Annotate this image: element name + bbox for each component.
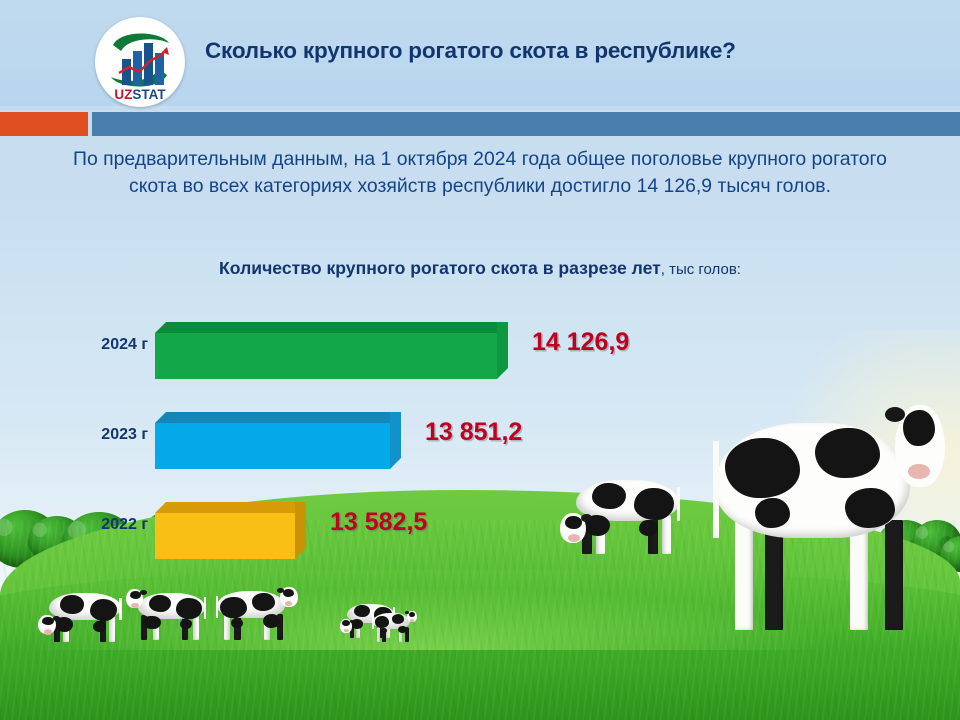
logo-text-stat: STAT bbox=[132, 87, 166, 102]
cow-head-patch bbox=[42, 617, 54, 626]
bar-front-face bbox=[155, 333, 497, 379]
header-bar: UZSTAT Сколько крупного рогатого скота в… bbox=[0, 0, 960, 106]
chart-caption-light: , тыс голов: bbox=[661, 261, 741, 278]
cow-patch bbox=[252, 593, 275, 611]
cow-muzzle bbox=[410, 619, 414, 622]
chart-caption: Количество крупного рогатого скота в раз… bbox=[60, 258, 900, 279]
cow-leg bbox=[377, 627, 380, 642]
cow-head-patch bbox=[409, 612, 415, 617]
bar-2023-г bbox=[155, 412, 401, 469]
chart-row: 2022 г13 582,5 bbox=[0, 480, 960, 570]
cow-muzzle bbox=[131, 603, 139, 608]
cow-leg bbox=[193, 615, 199, 640]
cow-leg bbox=[224, 614, 230, 640]
bar-year-label: 2024 г bbox=[48, 336, 148, 354]
cow-patch bbox=[144, 616, 161, 630]
bar-side-face bbox=[497, 322, 508, 379]
cow-patch bbox=[180, 619, 192, 629]
cow-patch bbox=[380, 628, 387, 634]
bar-year-label: 2023 г bbox=[48, 426, 148, 444]
bar-top-face bbox=[155, 322, 508, 333]
accent-band bbox=[0, 112, 960, 136]
cow-patch bbox=[93, 621, 106, 632]
cow bbox=[128, 588, 214, 640]
cow-patch bbox=[149, 595, 171, 612]
bar-top-face bbox=[155, 412, 401, 423]
accent-band-blue bbox=[92, 112, 960, 136]
logo-text-uz: UZ bbox=[114, 87, 132, 102]
cow-ear bbox=[277, 588, 284, 593]
cow-patch bbox=[220, 597, 246, 618]
bar-value-label: 14 126,9 bbox=[532, 328, 629, 357]
cow-patch bbox=[176, 598, 202, 619]
cow-tail bbox=[204, 597, 206, 619]
page-title: Сколько крупного рогатого скота в респуб… bbox=[205, 38, 925, 64]
cow-patch bbox=[231, 618, 243, 629]
chart-caption-bold: Количество крупного рогатого скота в раз… bbox=[219, 258, 661, 278]
chart-row: 2024 г14 126,9 bbox=[0, 300, 960, 390]
cow-tail bbox=[119, 598, 121, 621]
cow bbox=[208, 586, 296, 640]
uzstat-logo-icon: UZSTAT bbox=[95, 17, 185, 107]
cow-tail bbox=[372, 616, 373, 629]
bar-value-label: 13 582,5 bbox=[330, 508, 427, 537]
bar-2024-г bbox=[155, 322, 508, 379]
cow-patch bbox=[90, 599, 118, 621]
bar-side-face bbox=[390, 412, 401, 469]
bar-top-face bbox=[155, 502, 306, 513]
bar-front-face bbox=[155, 423, 390, 469]
bar-2022-г bbox=[155, 502, 306, 559]
cow-muzzle bbox=[44, 629, 52, 635]
bar-chart: 2024 г14 126,92023 г13 851,22022 г13 582… bbox=[0, 300, 960, 570]
bar-side-face bbox=[295, 502, 306, 559]
uzstat-logo[interactable]: UZSTAT bbox=[95, 17, 185, 107]
accent-band-orange bbox=[0, 112, 88, 136]
cow bbox=[368, 610, 416, 642]
cow-tail bbox=[216, 596, 218, 619]
bar-front-face bbox=[155, 513, 295, 559]
svg-text:UZSTAT: UZSTAT bbox=[114, 87, 166, 102]
cow-ear bbox=[140, 590, 147, 595]
bar-value-label: 13 851,2 bbox=[425, 418, 522, 447]
intro-paragraph: По предварительным данным, на 1 октября … bbox=[66, 146, 894, 200]
cow bbox=[38, 588, 130, 642]
bar-year-label: 2022 г bbox=[48, 516, 148, 534]
chart-row: 2023 г13 851,2 bbox=[0, 390, 960, 480]
cow-patch bbox=[375, 616, 389, 628]
cow-patch bbox=[392, 614, 404, 624]
infographic-slide: UZSTAT Сколько крупного рогатого скота в… bbox=[0, 0, 960, 720]
cow-patch bbox=[60, 595, 84, 613]
